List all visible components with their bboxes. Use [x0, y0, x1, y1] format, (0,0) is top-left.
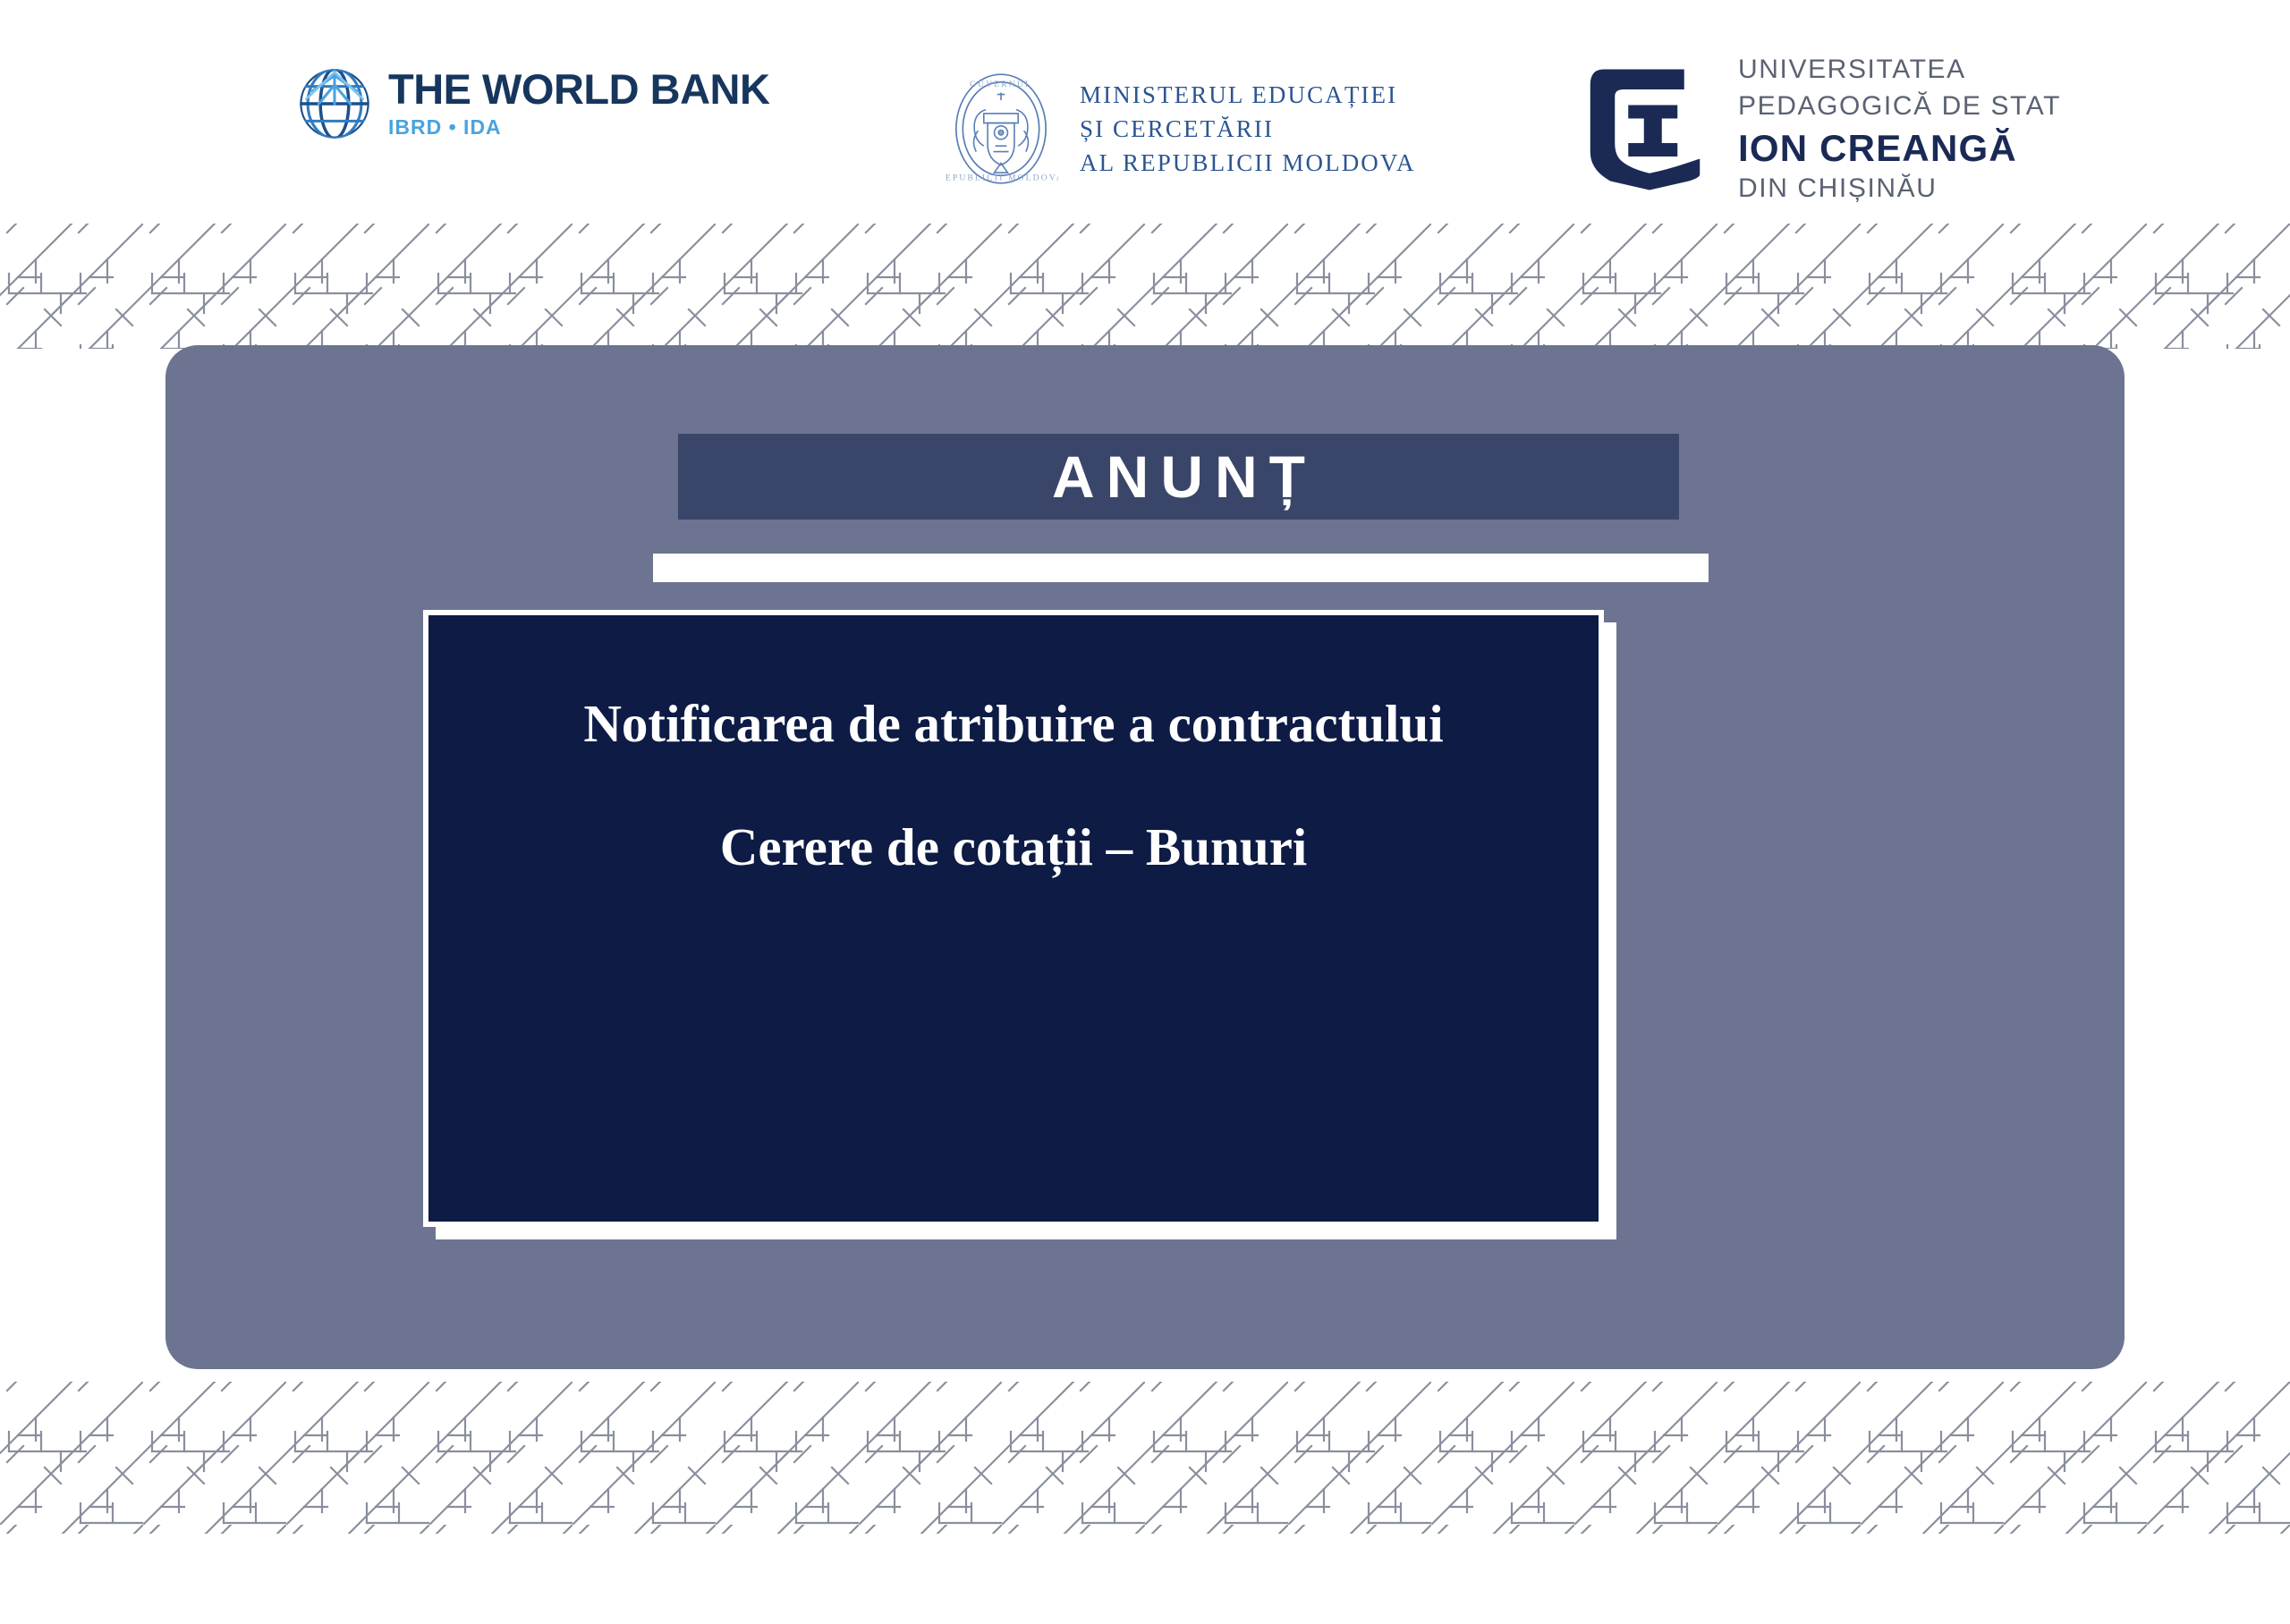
- ministry-wordmark: MINISTERUL EDUCAȚIEI ȘI CERCETĂRII AL RE…: [1080, 78, 1416, 181]
- title-accent-bar: [653, 554, 1709, 582]
- logo-ministry-of-education: GUVERNUL REPUBLICII MOLDOVA MINISTERUL E…: [944, 72, 1416, 186]
- logo-world-bank: THE WORLD BANK IBRD • IDA: [295, 64, 769, 143]
- world-bank-title: THE WORLD BANK: [388, 68, 769, 111]
- title-accent-notch: [653, 568, 667, 582]
- university-line-1: UNIVERSITATEA: [1738, 52, 2061, 89]
- globe-icon: [295, 64, 374, 143]
- university-line-3: ION CREANGĂ: [1738, 125, 2061, 171]
- header-logo-strip: THE WORLD BANK IBRD • IDA GUVERNUL REPUB…: [0, 0, 2290, 224]
- content-box: Notificarea de atribuire a contractului …: [423, 610, 1604, 1227]
- world-bank-wordmark: THE WORLD BANK IBRD • IDA: [388, 68, 769, 140]
- university-line-2: PEDAGOGICĂ DE STAT: [1738, 89, 2061, 125]
- university-line-4: DIN CHIȘINĂU: [1738, 171, 2061, 207]
- ministry-line-3: AL REPUBLICII MOLDOVA: [1080, 146, 1416, 180]
- university-shield-icon: [1588, 67, 1711, 192]
- poster-card: ANUNȚ Notificarea de atribuire a contrac…: [165, 345, 2125, 1369]
- page-title: ANUNȚ: [1040, 447, 1317, 506]
- logo-ion-creanga-university: UNIVERSITATEA PEDAGOGICĂ DE STAT ION CRE…: [1588, 52, 2061, 207]
- moldova-state-emblem-icon: GUVERNUL REPUBLICII MOLDOVA: [944, 72, 1058, 186]
- university-wordmark: UNIVERSITATEA PEDAGOGICĂ DE STAT ION CRE…: [1738, 52, 2061, 207]
- svg-text:GUVERNUL: GUVERNUL: [970, 80, 1032, 89]
- poster-title-bar: ANUNȚ: [678, 434, 1679, 520]
- content-box-wrapper: Notificarea de atribuire a contractului …: [423, 610, 1604, 1227]
- content-line-2: Cerere de cotații – Bunuri: [428, 816, 1599, 879]
- svg-text:REPUBLICII MOLDOVA: REPUBLICII MOLDOVA: [944, 173, 1058, 183]
- world-bank-subtitle: IBRD • IDA: [388, 115, 769, 140]
- ministry-line-2: ȘI CERCETĂRII: [1080, 112, 1416, 146]
- content-line-1: Notificarea de atribuire a contractului: [428, 692, 1599, 756]
- ministry-line-1: MINISTERUL EDUCAȚIEI: [1080, 78, 1416, 112]
- decorative-pattern-band-bottom: [0, 1382, 2290, 1534]
- decorative-pattern-band-top: [0, 224, 2290, 349]
